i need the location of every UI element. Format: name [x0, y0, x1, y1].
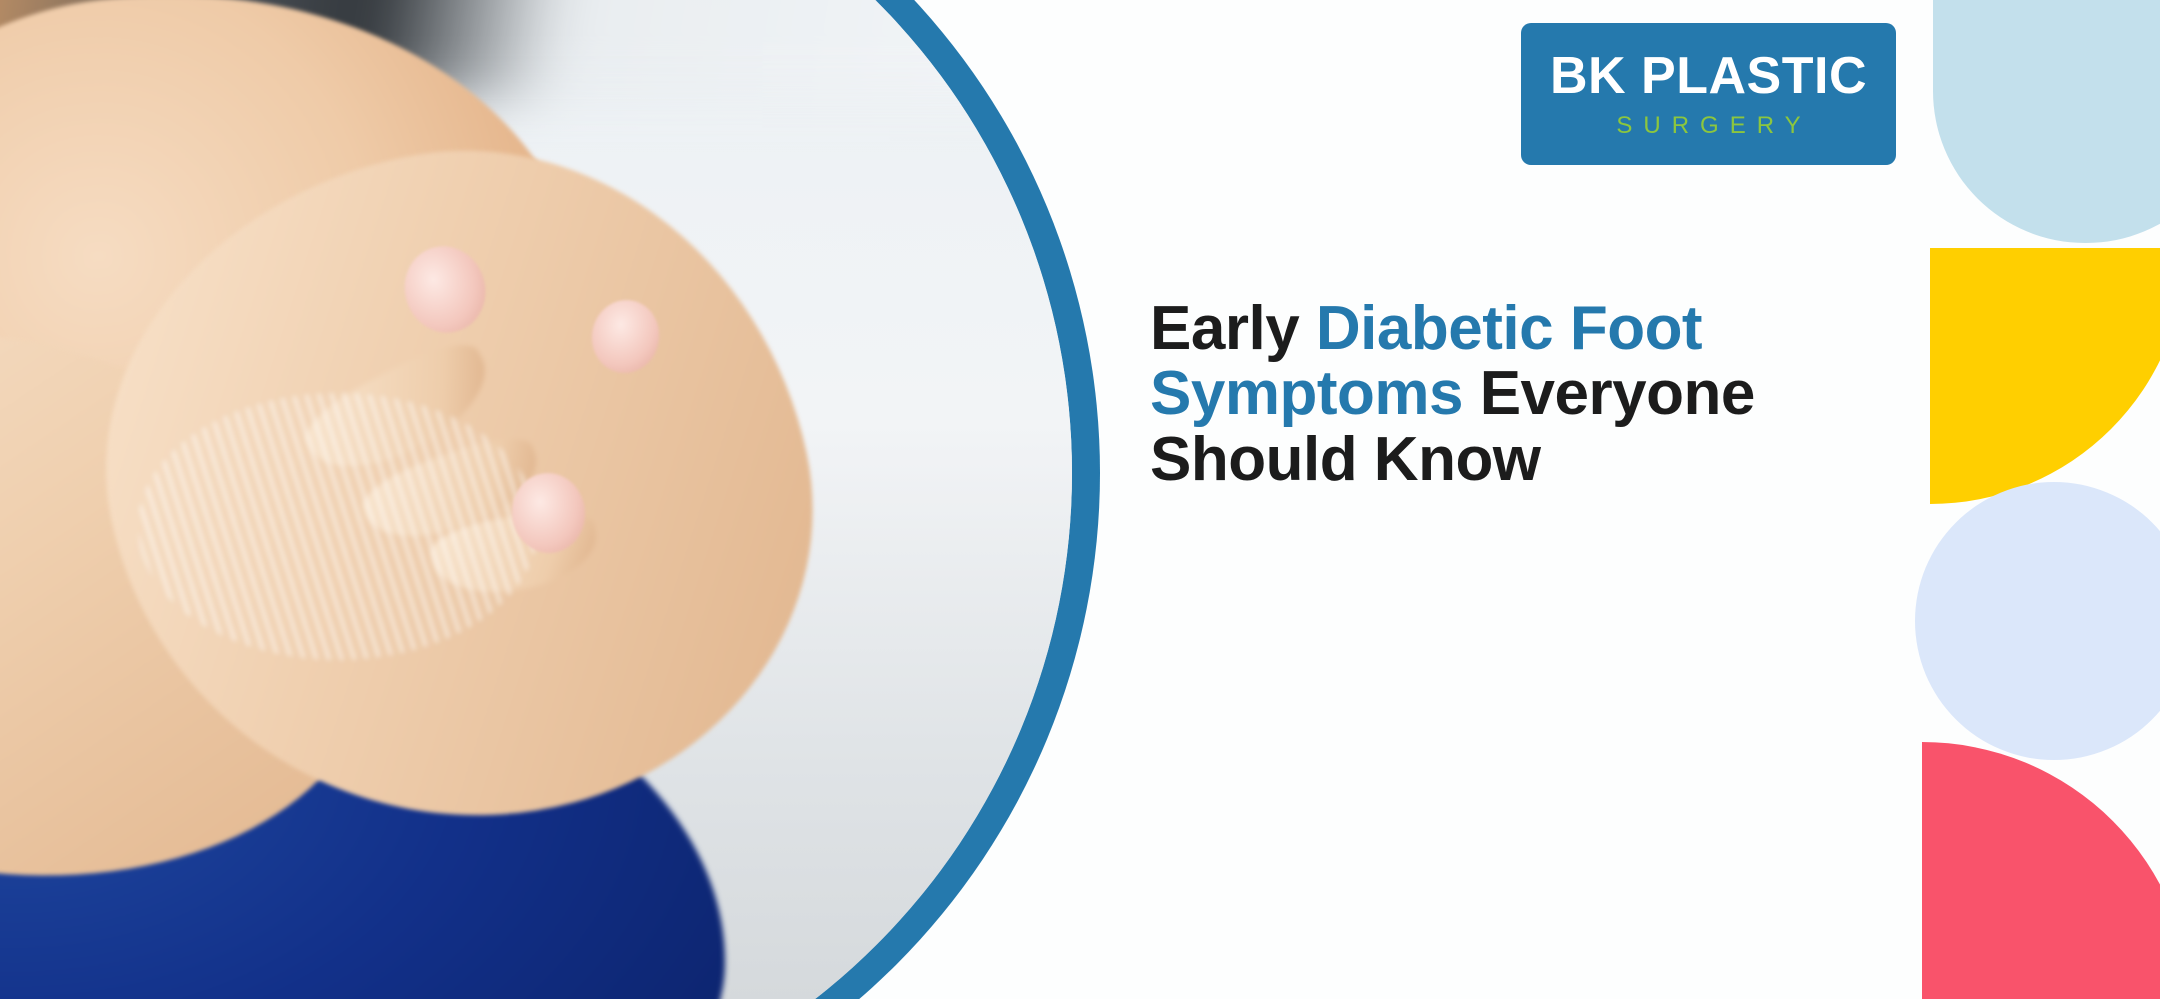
decorative-shapes: [1900, 0, 2160, 999]
content-column: BK PLASTIC SURGERY Early Diabetic Foot S…: [1150, 0, 1890, 999]
light-blue-leaf-shape: [1933, 0, 2160, 243]
page-title: Early Diabetic Foot Symptoms Everyone Sh…: [1150, 296, 1870, 493]
brand-logo[interactable]: BK PLASTIC SURGERY: [1521, 23, 1896, 165]
pink-quarter-circle-shape: [1922, 742, 2160, 999]
brand-logo-primary-text: BK PLASTIC: [1550, 50, 1867, 102]
brand-logo-secondary-text: SURGERY: [1605, 114, 1811, 138]
photo-sole-crease: [138, 393, 538, 660]
promo-banner: BK PLASTIC SURGERY Early Diabetic Foot S…: [0, 0, 2160, 999]
periwinkle-circle-shape: [1915, 482, 2160, 760]
headline-part-one: Early: [1150, 294, 1316, 363]
hero-photo-ring: [0, 0, 1100, 999]
hero-photo: [0, 0, 1072, 999]
yellow-quarter-circle-shape: [1930, 248, 2160, 504]
